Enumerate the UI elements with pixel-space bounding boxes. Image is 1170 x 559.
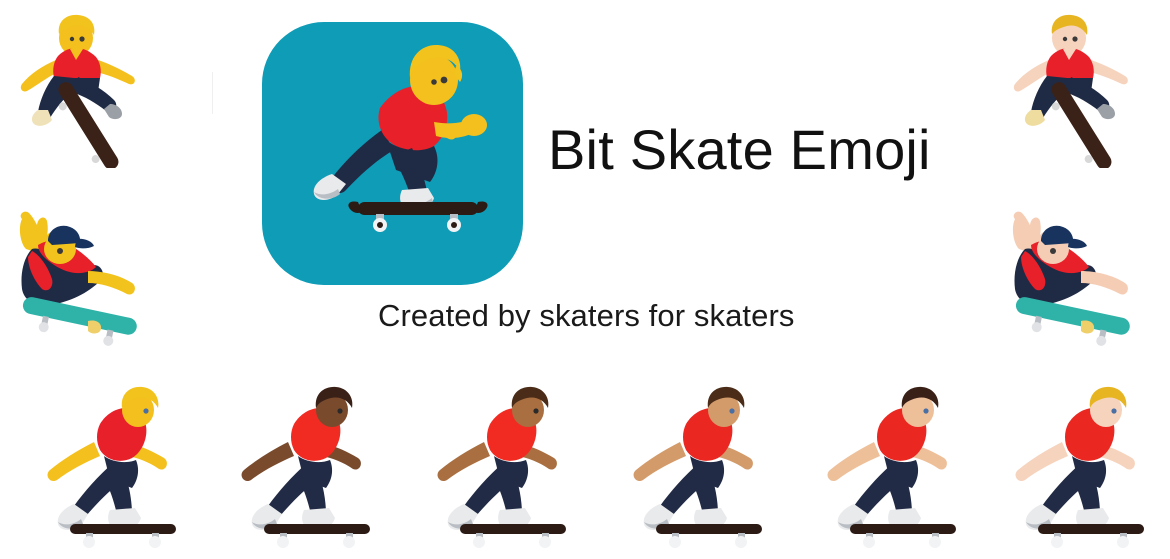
skater-grab-light-icon xyxy=(995,205,1150,355)
skater-push-medium-light-icon xyxy=(802,382,980,559)
skater-push-medium-dark-icon xyxy=(412,382,590,559)
edge-artifact xyxy=(212,72,213,114)
page-tagline: Created by skaters for skaters xyxy=(378,296,795,336)
skater-push-light-icon xyxy=(990,382,1168,559)
bit-skate-emoji-app-icon[interactable] xyxy=(262,22,523,285)
promo-page: Bit Skate Emoji Created by skaters for s… xyxy=(0,0,1170,559)
skater-push-default-icon xyxy=(22,382,200,559)
skater-grab-default-icon xyxy=(2,205,154,355)
page-title: Bit Skate Emoji xyxy=(548,118,931,182)
skater-push-medium-icon xyxy=(608,382,786,559)
skater-kickflip-light-icon xyxy=(1005,8,1157,168)
skater-push-dark-icon xyxy=(216,382,394,559)
skater-kickflip-default-icon xyxy=(12,8,162,168)
